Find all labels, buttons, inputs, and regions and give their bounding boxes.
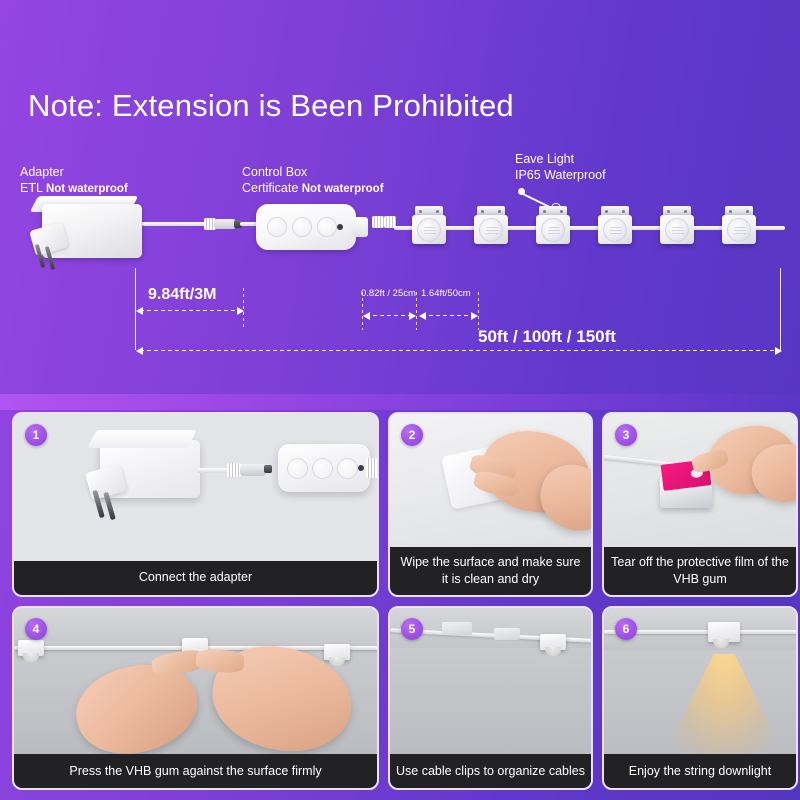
- page-title: Note: Extension is Been Prohibited: [28, 88, 514, 124]
- callout-adapter-cert: ETL: [20, 181, 46, 195]
- callout-eave-light: Eave Light IP65 Waterproof: [515, 152, 606, 183]
- module-body: [536, 215, 570, 244]
- eave-light-module: [598, 206, 632, 244]
- step-4-scene: 4: [14, 608, 377, 755]
- control-box-button[interactable]: [337, 458, 358, 479]
- string-cable: [445, 226, 475, 230]
- eave-light-module: [722, 206, 756, 244]
- control-box-button[interactable]: [287, 458, 308, 479]
- step-1-scene: 1: [14, 414, 377, 561]
- callout-adapter: Adapter ETL Not waterproof: [20, 165, 128, 196]
- dim-label-module-spacing: 1.64ft/50cm: [421, 288, 471, 299]
- control-box-led-icon: [358, 465, 364, 471]
- dim-arrow-left-icon: [419, 312, 426, 320]
- cable-clip: [494, 628, 520, 640]
- module-lens: [541, 218, 565, 242]
- string-cable: [631, 226, 661, 230]
- adapter-illustration: [26, 196, 146, 268]
- light-module: [324, 644, 350, 660]
- dim-arrow-left-icon: [136, 347, 143, 355]
- dim-tick: [478, 292, 479, 330]
- dim-arrow-right-icon: [471, 312, 478, 320]
- eave-light-module: [474, 206, 508, 244]
- eave-light-module: [660, 206, 694, 244]
- cable-strain-relief: [372, 216, 384, 228]
- control-box-body: [256, 204, 356, 250]
- callout-control-line2: Certificate Not waterproof: [242, 181, 384, 197]
- module-body: [722, 215, 756, 244]
- callout-control-line1: Control Box: [242, 165, 384, 181]
- dim-label-first-gap: 0.82ft / 25cm: [361, 288, 416, 299]
- hero-diagram-section: Note: Extension is Been Prohibited Adapt…: [0, 0, 800, 400]
- control-box-cable-neck: [352, 217, 368, 237]
- module-body: [598, 215, 632, 244]
- callout-control-warning: Not waterproof: [302, 183, 384, 195]
- light-module: [708, 622, 740, 642]
- light-module: [18, 640, 44, 656]
- step-caption-1: Connect the adapter: [14, 561, 377, 595]
- control-box-illustration: [256, 204, 374, 250]
- step-badge-6: 6: [615, 618, 637, 640]
- step-5-scene: 5: [390, 608, 591, 755]
- cable-strain-relief: [366, 458, 377, 478]
- control-box-button[interactable]: [292, 217, 312, 237]
- control-box-led-icon: [337, 224, 343, 230]
- module-lens: [727, 218, 751, 242]
- callout-eave-line1: Eave Light: [515, 152, 606, 168]
- eave-light-module: [536, 206, 570, 244]
- step-panel-4[interactable]: 4 Press the VHB gum against the surface …: [12, 606, 379, 791]
- step-panel-3[interactable]: 3 Tear off the protective film of the VH…: [602, 412, 798, 597]
- dim-label-adapter-cable: 9.84ft/3M: [148, 286, 216, 304]
- string-cable: [507, 226, 537, 230]
- control-box-button[interactable]: [267, 217, 287, 237]
- dim-tick: [416, 292, 417, 330]
- dim-arrow-left-icon: [363, 312, 370, 320]
- installation-steps-grid: 1 Connect the adapter: [0, 406, 800, 800]
- callout-adapter-line2: ETL Not waterproof: [20, 181, 128, 197]
- step-badge-4: 4: [25, 618, 47, 640]
- step-badge-5: 5: [401, 618, 423, 640]
- string-cable: [693, 226, 723, 230]
- soffit-lower: [390, 648, 591, 755]
- dim-line-first-gap: [366, 315, 412, 316]
- step-panel-1[interactable]: 1 Connect the adapter: [12, 412, 379, 597]
- step-3-scene: 3: [604, 414, 796, 547]
- module-lens: [417, 218, 441, 242]
- control-box-body: [278, 444, 370, 492]
- dim-arrow-right-icon: [775, 347, 782, 355]
- step-2-scene: 2: [390, 414, 591, 547]
- step-badge-3: 3: [615, 424, 637, 446]
- module-lens: [665, 218, 689, 242]
- module-body: [412, 215, 446, 244]
- module-lens: [603, 218, 627, 242]
- callout-adapter-line1: Adapter: [20, 165, 128, 181]
- callout-adapter-warning: Not waterproof: [46, 183, 128, 195]
- step-caption-2: Wipe the surface and make sure it is cle…: [390, 547, 591, 595]
- callout-control-box: Control Box Certificate Not waterproof: [242, 165, 384, 196]
- module-body: [474, 215, 508, 244]
- adapter-cable: [142, 222, 210, 226]
- string-cable: [755, 226, 785, 230]
- string-cable: [569, 226, 599, 230]
- string-cable: [394, 226, 414, 230]
- step-badge-2: 2: [401, 424, 423, 446]
- module-body: [660, 215, 694, 244]
- step-badge-1: 1: [25, 424, 47, 446]
- step-panel-5[interactable]: 5 Use cable clips to organize cables: [388, 606, 593, 791]
- dim-arrow-left-icon: [136, 307, 143, 315]
- dim-line-module-spacing: [422, 315, 474, 316]
- module-lens: [479, 218, 503, 242]
- adapter-top-face: [87, 430, 197, 448]
- step-panel-6[interactable]: 6 Enjoy the string downlight: [602, 606, 798, 791]
- dim-tick: [780, 268, 781, 350]
- dc-barrel-plug: [240, 464, 266, 476]
- light-module: [540, 634, 566, 650]
- callout-eave-line2: IP65 Waterproof: [515, 168, 606, 184]
- eave-light-module: [412, 206, 446, 244]
- dim-line-adapter-cable: [140, 310, 240, 311]
- infographic-page: Note: Extension is Been Prohibited Adapt…: [0, 0, 800, 800]
- finger: [195, 648, 244, 673]
- step-caption-5: Use cable clips to organize cables: [390, 754, 591, 788]
- cable-strain-relief: [227, 463, 241, 477]
- dim-label-total-length: 50ft / 100ft / 150ft: [478, 327, 616, 347]
- step-caption-3: Tear off the protective film of the VHB …: [604, 547, 796, 595]
- dim-arrow-right-icon: [237, 307, 244, 315]
- dim-line-total-length: [140, 350, 780, 351]
- control-box-button[interactable]: [317, 217, 337, 237]
- cable-clip: [442, 622, 472, 635]
- dc-barrel-plug: [214, 219, 236, 229]
- dim-arrow-right-icon: [409, 312, 416, 320]
- step-caption-4: Press the VHB gum against the surface fi…: [14, 754, 377, 788]
- step-caption-6: Enjoy the string downlight: [604, 754, 796, 788]
- control-box-button[interactable]: [312, 458, 333, 479]
- callout-control-cert: Certificate: [242, 181, 302, 195]
- step-6-scene: 6: [604, 608, 796, 755]
- step-panel-2[interactable]: 2 Wipe the surface and make sure it is c…: [388, 412, 593, 597]
